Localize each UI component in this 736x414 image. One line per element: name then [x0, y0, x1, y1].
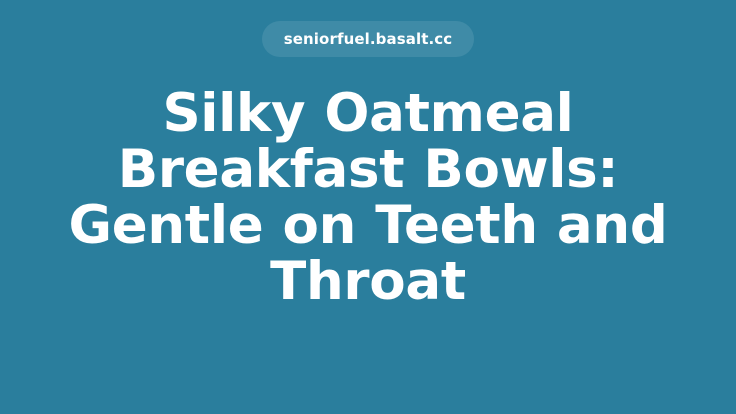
page-title: Silky Oatmeal Breakfast Bowls: Gentle on… — [0, 86, 736, 310]
social-share-card: seniorfuel.basalt.cc Silky Oatmeal Break… — [0, 0, 736, 414]
site-domain-badge: seniorfuel.basalt.cc — [262, 21, 475, 57]
site-domain-label: seniorfuel.basalt.cc — [284, 32, 453, 47]
